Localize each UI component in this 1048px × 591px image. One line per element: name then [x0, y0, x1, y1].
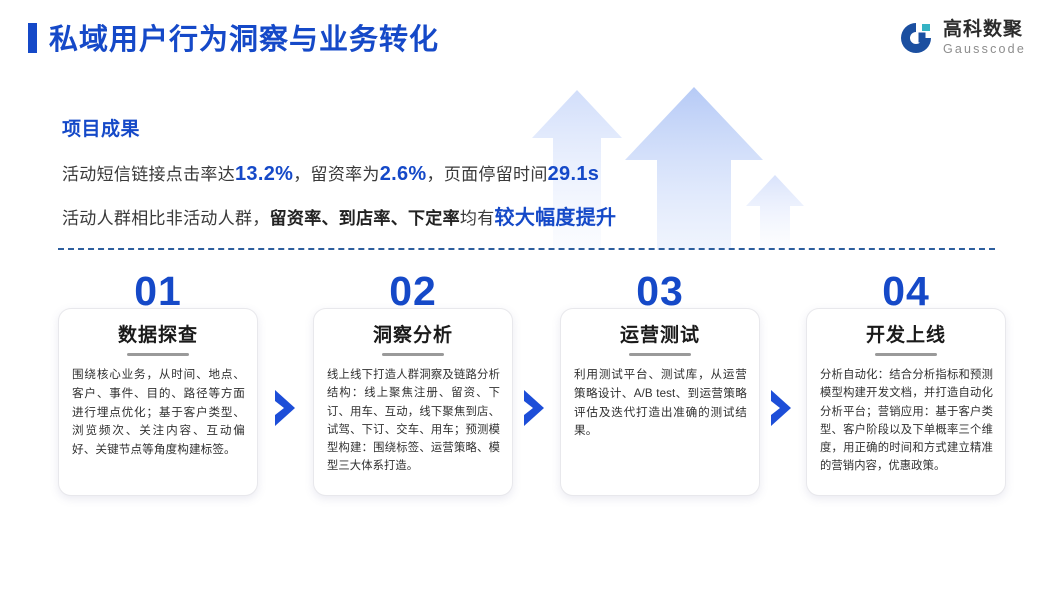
metric-click-rate: 13.2%	[235, 163, 293, 185]
step-rule-3	[629, 353, 691, 356]
step-title-4: 开发上线	[807, 320, 1005, 347]
step-rule-4	[875, 353, 937, 356]
step-body-2: 线上线下打造人群洞察及链路分析结构：线上聚焦注册、留资、下订、用车、互动，线下聚…	[327, 366, 500, 476]
step-rule-2	[382, 353, 444, 356]
logo-name-cn: 高科数聚	[943, 20, 1026, 39]
logo-text-group: 高科数聚 Gausscode	[943, 20, 1026, 56]
step-title-3: 运营测试	[561, 320, 759, 347]
results-line2-metrics: 留资率、到店率、下定率	[270, 209, 460, 228]
brand-logo: 高科数聚 Gausscode	[898, 20, 1026, 56]
results-line1-part3: ，页面停留时间	[427, 165, 548, 184]
step-card-1[interactable]: 01 数据探查 围绕核心业务，从时间、地点、客户、事件、目的、路径等方面进行埋点…	[58, 308, 258, 496]
step-body-1: 围绕核心业务，从时间、地点、客户、事件、目的、路径等方面进行埋点优化；基于客户类…	[72, 366, 245, 460]
title-accent-bar	[28, 23, 37, 53]
results-line1-part1: 活动短信链接点击率达	[62, 165, 235, 184]
step-card-3[interactable]: 03 运营测试 利用测试平台、测试库，从运营策略设计、A/B test、到运营策…	[560, 308, 760, 496]
step-title-1: 数据探查	[59, 320, 257, 347]
step-number-3: 03	[561, 271, 759, 312]
results-heading: 项目成果	[62, 114, 140, 141]
gausscode-logo-icon	[898, 20, 934, 56]
metric-dwell-time: 29.1s	[548, 163, 600, 185]
page-title: 私域用户行为洞察与业务转化	[49, 16, 439, 58]
page-header: 私域用户行为洞察与业务转化 高科数聚 Gausscode	[0, 0, 1048, 78]
results-line2-part1: 活动人群相比非活动人群，	[62, 209, 270, 228]
step-body-4: 分析自动化：结合分析指标和预测模型构建开发文档，并打造自动化分析平台；营销应用：…	[820, 366, 993, 476]
up-arrow-icon-center	[625, 87, 763, 250]
chevron-right-icon-3	[768, 388, 794, 428]
chevron-right-icon-2	[521, 388, 547, 428]
results-line1-part2: ，留资率为	[293, 165, 380, 184]
step-body-3: 利用测试平台、测试库，从运营策略设计、A/B test、到运营策略评估及迭代打造…	[574, 366, 747, 441]
process-steps-section: 01 数据探查 围绕核心业务，从时间、地点、客户、事件、目的、路径等方面进行埋点…	[0, 272, 1048, 522]
results-line-2: 活动人群相比非活动人群，留资率、到店率、下定率均有较大幅度提升	[62, 201, 616, 230]
step-card-2[interactable]: 02 洞察分析 线上线下打造人群洞察及链路分析结构：线上聚焦注册、留资、下订、用…	[313, 308, 513, 496]
logo-name-en: Gausscode	[943, 43, 1026, 56]
results-line2-highlight: 较大幅度提升	[495, 207, 617, 229]
step-number-2: 02	[314, 271, 512, 312]
step-number-1: 01	[59, 271, 257, 312]
step-rule-1	[127, 353, 189, 356]
section-divider	[58, 248, 995, 250]
step-card-4[interactable]: 04 开发上线 分析自动化：结合分析指标和预测模型构建开发文档，并打造自动化分析…	[806, 308, 1006, 496]
metric-lead-rate: 2.6%	[380, 163, 427, 185]
results-line2-part2: 均有	[460, 209, 495, 228]
step-title-2: 洞察分析	[314, 320, 512, 347]
step-number-4: 04	[807, 271, 1005, 312]
chevron-right-icon-1	[272, 388, 298, 428]
results-line-1: 活动短信链接点击率达13.2%，留资率为2.6%，页面停留时间29.1s	[62, 160, 599, 186]
up-arrow-icon-right	[746, 175, 804, 250]
